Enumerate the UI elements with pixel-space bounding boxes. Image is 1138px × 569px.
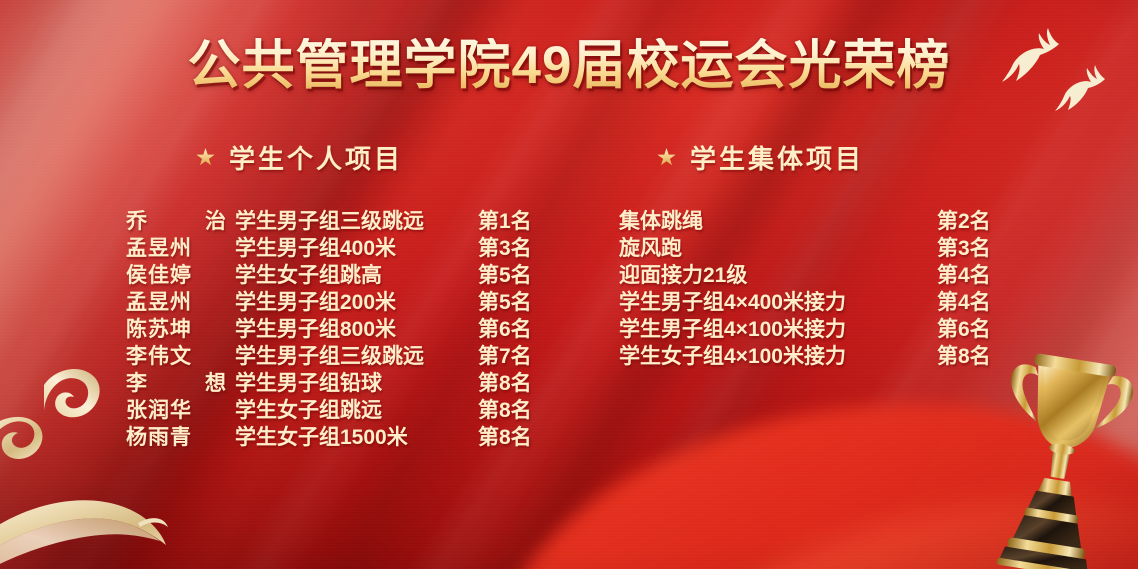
- event-name: 旋风跑: [619, 232, 682, 262]
- star-icon: [657, 148, 676, 167]
- rank-badge: 第8名: [478, 421, 532, 451]
- event-name: 学生女子组4×100米接力: [619, 340, 846, 370]
- rank-badge: 第3名: [937, 232, 991, 262]
- event-name: 学生男子组4×400米接力: [619, 286, 846, 316]
- event-name: 学生男子组三级跳远: [235, 205, 424, 235]
- event-name: 学生女子组跳远: [235, 394, 382, 424]
- event-name: 学生男子组4×100米接力: [619, 313, 846, 343]
- rank-badge: 第8名: [478, 367, 532, 397]
- section-heading-collective: 学生集体项目: [657, 139, 864, 176]
- rank-badge: 第5名: [478, 259, 532, 289]
- section-heading-individual-label: 学生个人项目: [229, 139, 403, 176]
- event-name: 学生男子组200米: [235, 286, 396, 316]
- honor-roll-poster: 公共管理学院49届校运会光荣榜 学生个人项目 学生集体项目 乔治学生男子组三级跳…: [0, 0, 1138, 569]
- rank-badge: 第8名: [937, 340, 991, 370]
- event-name: 集体跳绳: [619, 205, 703, 235]
- page-title: 公共管理学院49届校运会光荣榜: [0, 38, 1138, 94]
- star-icon: [196, 148, 215, 167]
- event-name: 学生女子组1500米: [235, 421, 408, 451]
- rank-badge: 第7名: [478, 340, 532, 370]
- event-name: 学生男子组三级跳远: [235, 340, 424, 370]
- rank-badge: 第8名: [478, 394, 532, 424]
- event-name: 学生男子组铅球: [235, 367, 382, 397]
- rank-badge: 第5名: [478, 286, 532, 316]
- rank-badge: 第6名: [478, 313, 532, 343]
- event-name: 学生女子组跳高: [235, 259, 382, 289]
- event-name: 迎面接力21级: [619, 259, 747, 289]
- rank-badge: 第2名: [937, 205, 991, 235]
- section-heading-collective-label: 学生集体项目: [690, 139, 864, 176]
- rank-badge: 第1名: [478, 205, 532, 235]
- rank-badge: 第4名: [937, 259, 991, 289]
- rank-badge: 第4名: [937, 286, 991, 316]
- rank-badge: 第3名: [478, 232, 532, 262]
- rank-badge: 第6名: [937, 313, 991, 343]
- event-name: 学生男子组800米: [235, 313, 396, 343]
- section-heading-individual: 学生个人项目: [196, 139, 403, 176]
- event-name: 学生男子组400米: [235, 232, 396, 262]
